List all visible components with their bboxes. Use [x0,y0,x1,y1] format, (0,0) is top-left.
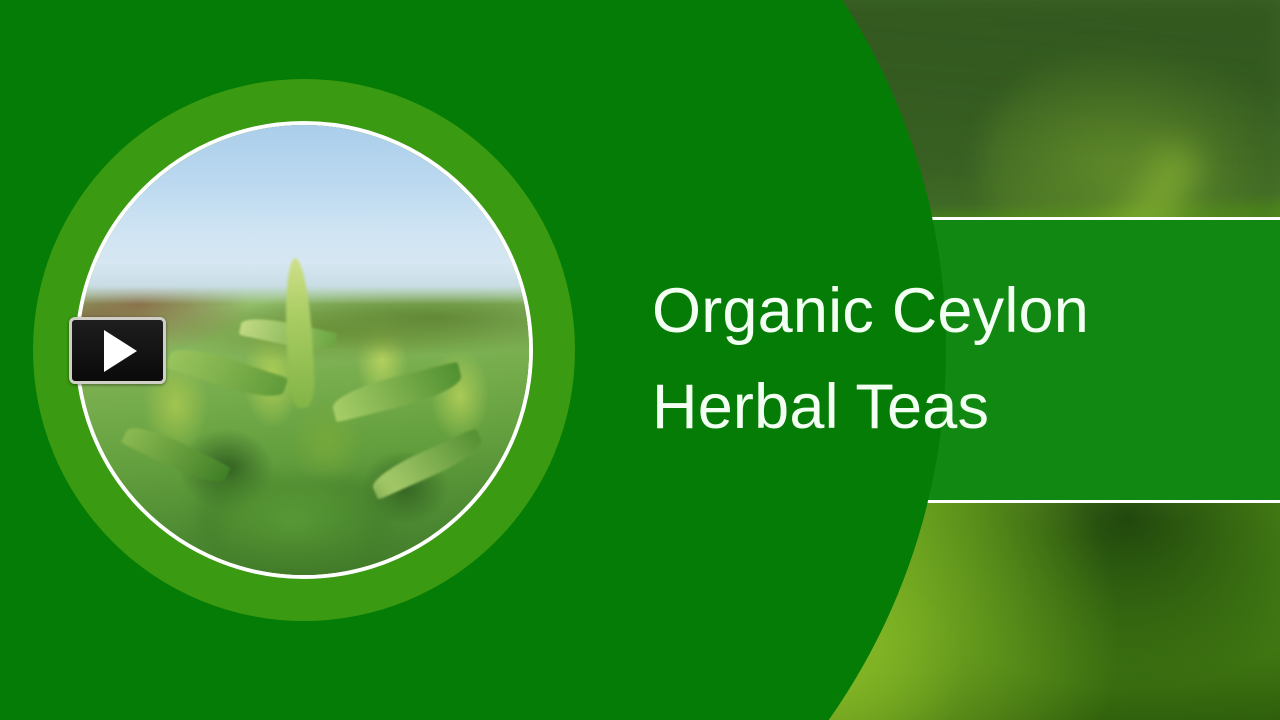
presentation-slide: Organic Ceylon Herbal Teas [0,0,1280,720]
title-line-2: Herbal Teas [652,360,1280,456]
slide-title: Organic Ceylon Herbal Teas [0,217,1280,503]
title-line-1: Organic Ceylon [652,264,1280,360]
